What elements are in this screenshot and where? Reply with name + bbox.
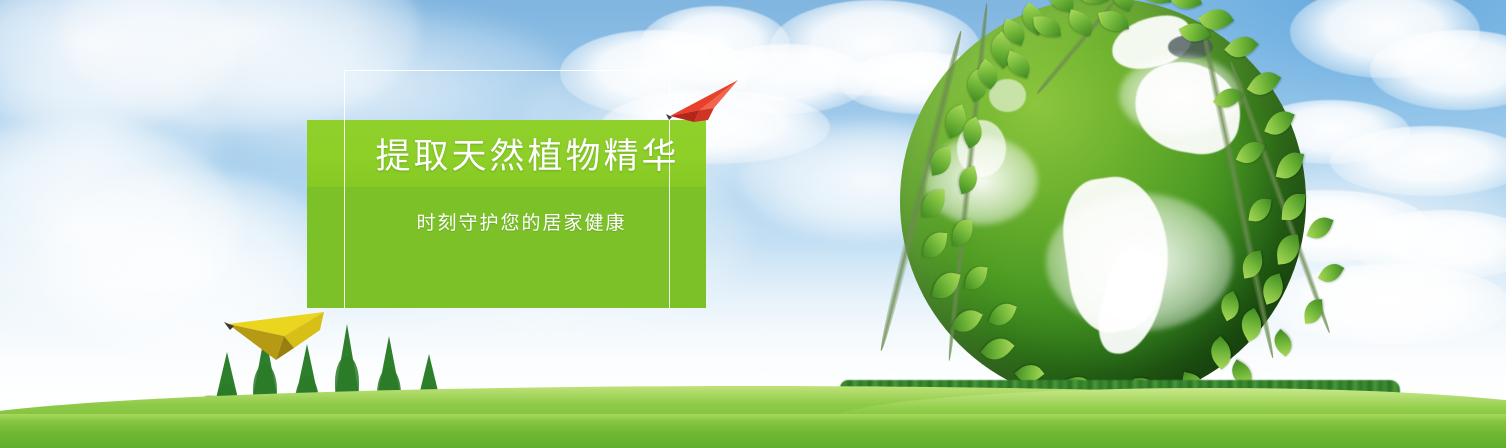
page-subtitle: 时刻守护您的居家健康 — [307, 208, 706, 235]
green-grass-field — [0, 414, 1506, 448]
frame-left-line — [344, 70, 345, 308]
leafy-green-globe — [872, 0, 1334, 434]
headline-panel: 提取天然植物精华 时刻守护您的居家健康 — [307, 120, 706, 308]
eco-hero-banner: 提取天然植物精华 时刻守护您的居家健康 — [0, 0, 1506, 448]
frame-right-line — [669, 70, 670, 308]
leaf — [1303, 299, 1324, 324]
panel-bottom-band — [307, 187, 706, 308]
page-title: 提取天然植物精华 — [307, 120, 706, 187]
leaf — [1306, 213, 1333, 242]
globe-cloud-overlay — [1046, 193, 1233, 331]
